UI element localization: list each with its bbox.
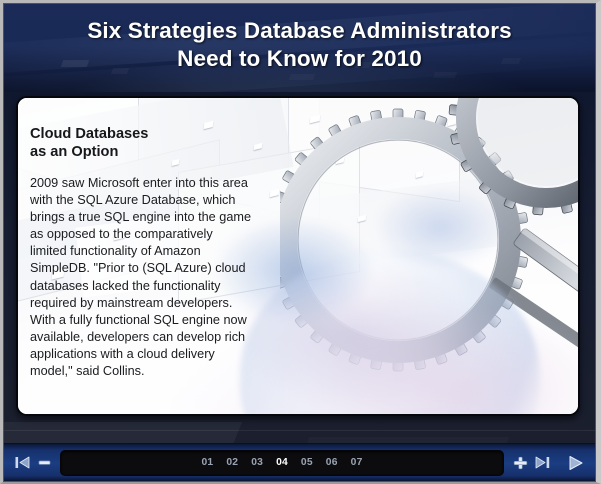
viewer-toolbar: 01 02 03 04 05 06 07: [4, 443, 595, 481]
play-button[interactable]: [562, 451, 588, 475]
glass-dome: [240, 250, 540, 414]
page-title: Six Strategies Database AdministratorsNe…: [4, 4, 595, 73]
skip-to-end-button[interactable]: [531, 451, 553, 475]
page-marker-06[interactable]: 06: [326, 457, 338, 468]
viewer-frame: Six Strategies Database AdministratorsNe…: [3, 3, 596, 482]
page-marker-04[interactable]: 04: [276, 457, 288, 468]
page-marker-03[interactable]: 03: [251, 457, 263, 468]
page-marker-05[interactable]: 05: [301, 457, 313, 468]
slide-stage: Cloud Databases as an Option 2009 saw Mi…: [4, 92, 595, 443]
gear-illustration: [280, 98, 578, 374]
zoom-out-button[interactable]: [33, 451, 55, 475]
slide-body-text: 2009 saw Microsoft enter into this area …: [30, 175, 252, 380]
page-title-line-2: Need to Know for 2010: [177, 46, 422, 71]
page-marker-07[interactable]: 07: [351, 457, 363, 468]
page-marker-02[interactable]: 02: [226, 457, 238, 468]
zoom-in-button[interactable]: [509, 451, 531, 475]
page-marker-01[interactable]: 01: [201, 457, 213, 468]
slide-text-column: Cloud Databases as an Option 2009 saw Mi…: [30, 125, 252, 380]
slide-heading: Cloud Databases as an Option: [30, 125, 252, 161]
page-timeline[interactable]: 01 02 03 04 05 06 07: [60, 450, 504, 476]
page-title-line-1: Six Strategies Database Administrators: [87, 18, 511, 43]
publication-header: Six Strategies Database AdministratorsNe…: [4, 4, 595, 92]
slide-card[interactable]: Cloud Databases as an Option 2009 saw Mi…: [16, 96, 580, 416]
document-viewer: Six Strategies Database AdministratorsNe…: [0, 0, 601, 484]
skip-to-start-button[interactable]: [11, 451, 33, 475]
